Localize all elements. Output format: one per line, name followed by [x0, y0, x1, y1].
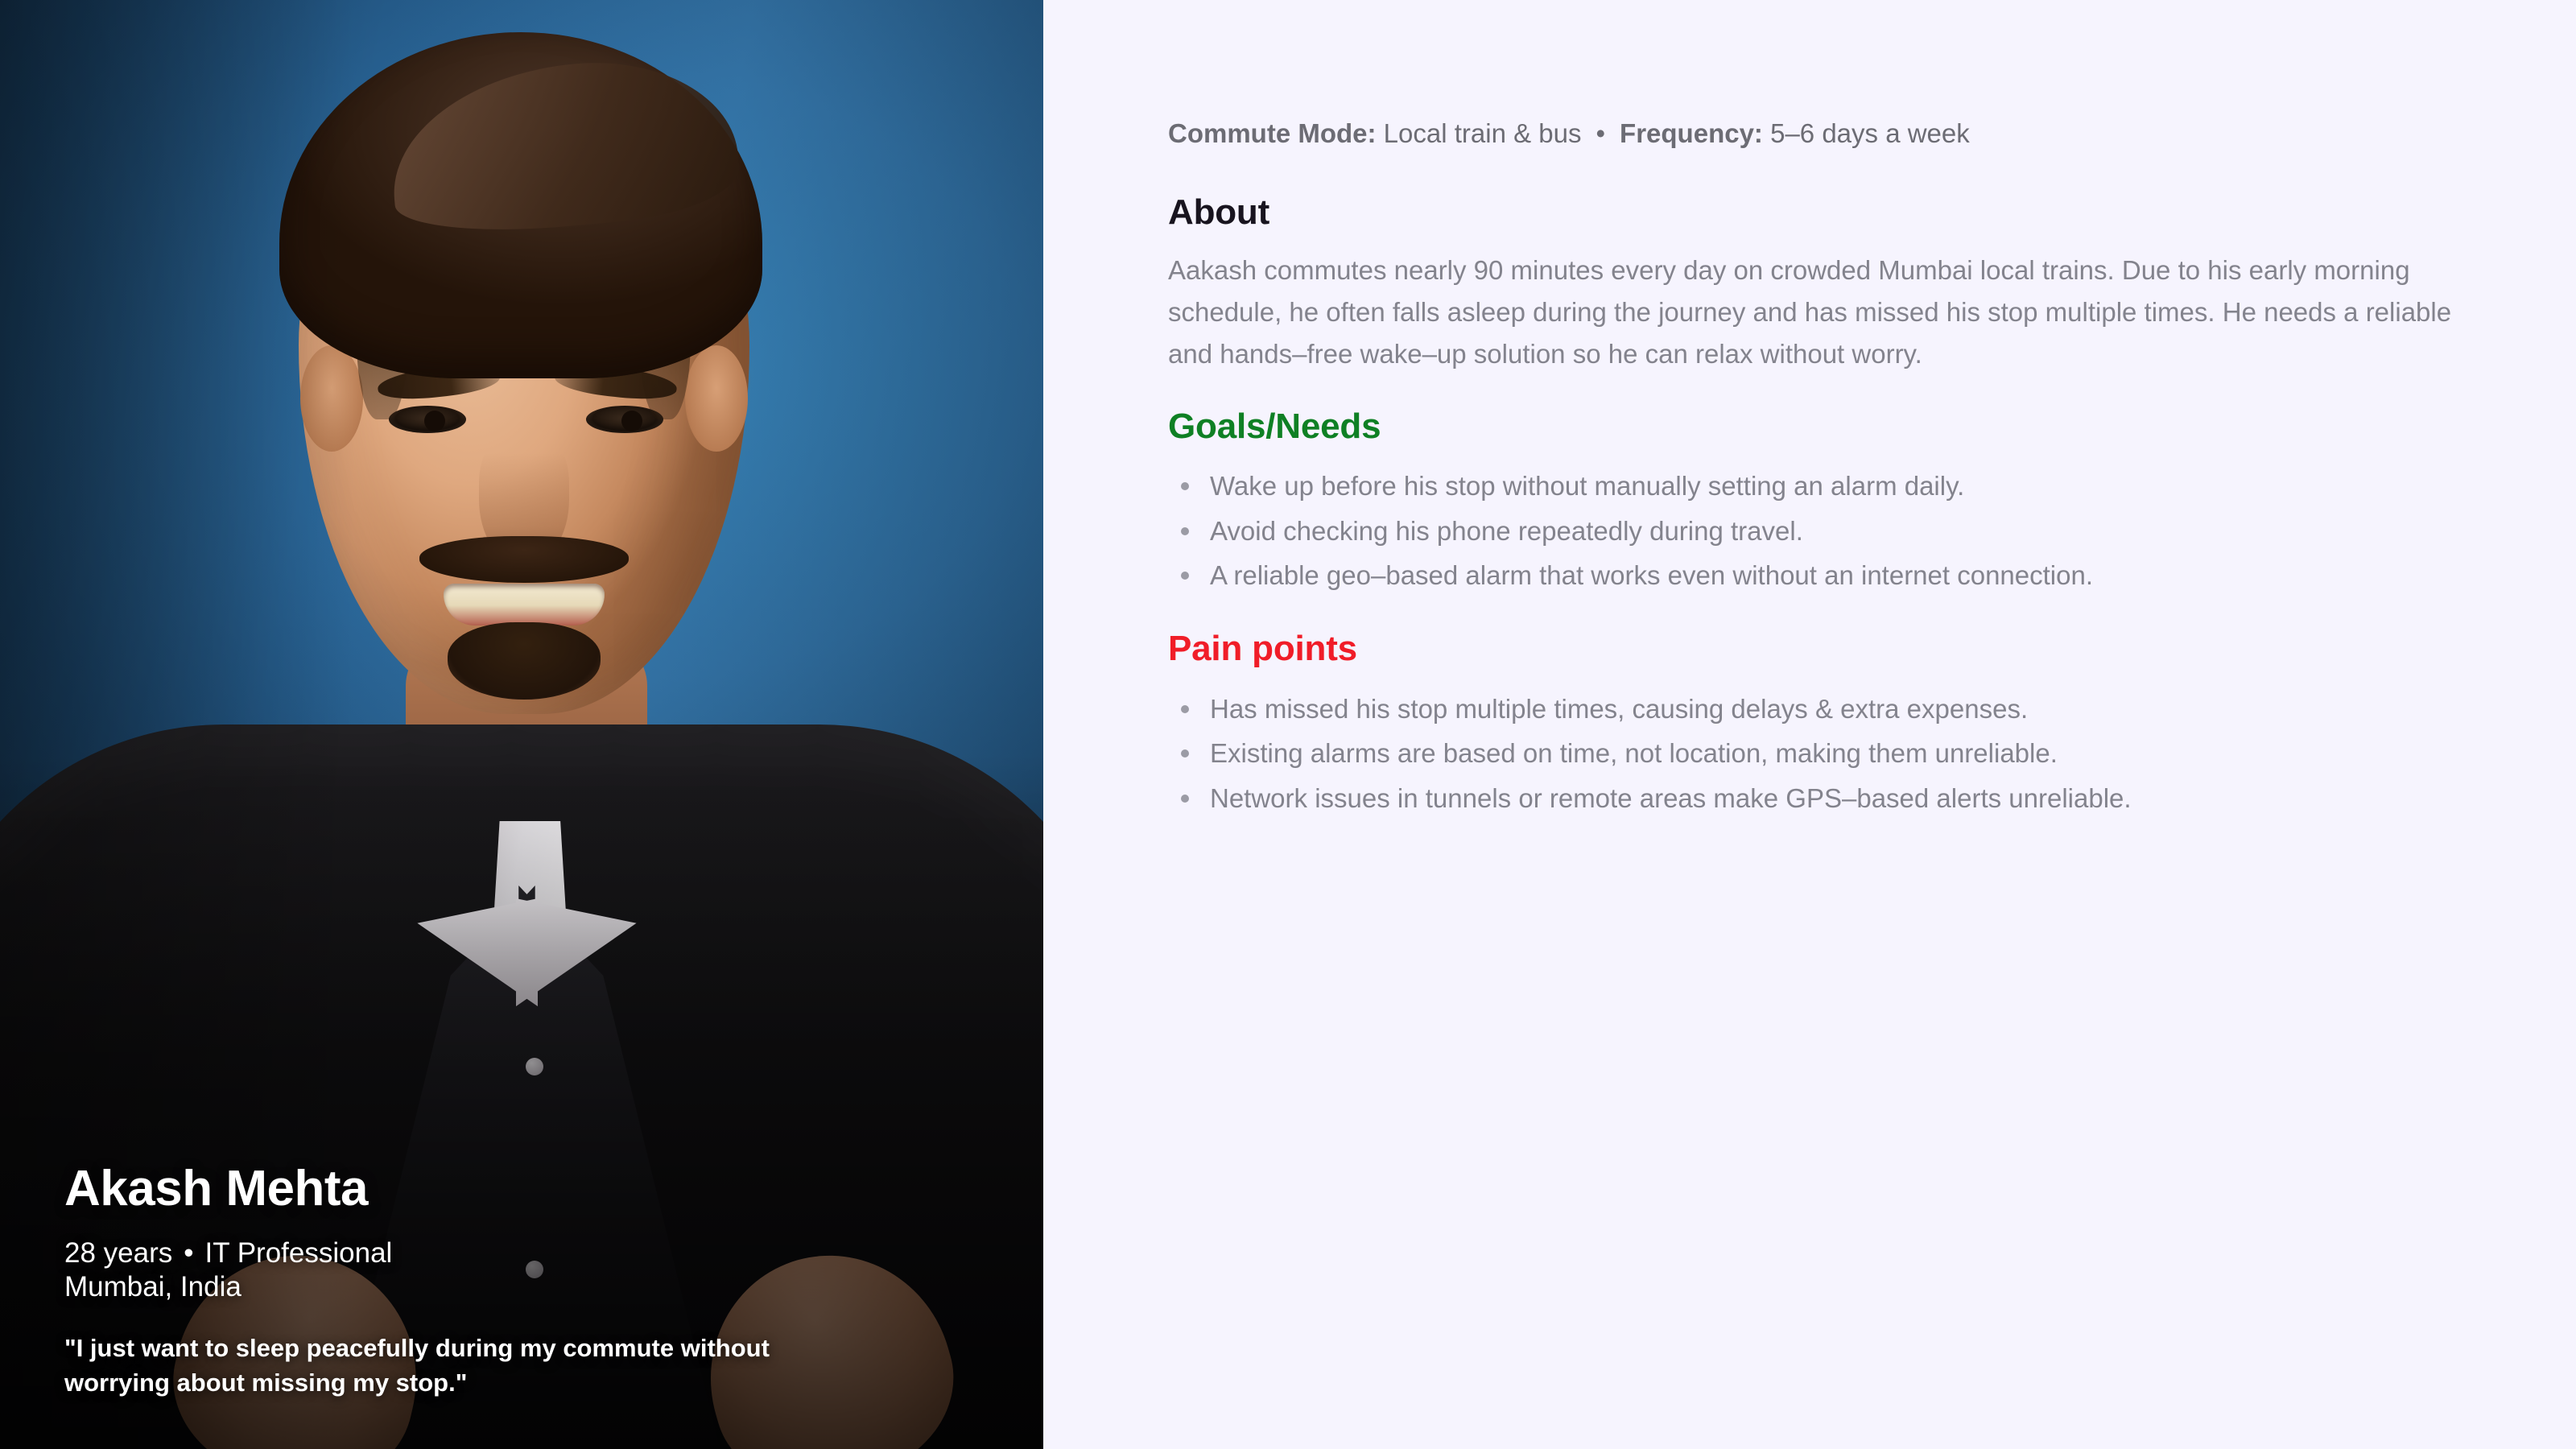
pain-points-list: Has missed his stop multiple times, caus… [1168, 688, 2455, 819]
bullet-dot-icon [1181, 572, 1189, 580]
pain-points-heading: Pain points [1168, 630, 2455, 668]
list-item: A reliable geo–based alarm that works ev… [1168, 555, 2455, 596]
portrait-pupil-right [621, 411, 642, 431]
commute-frequency-label: Frequency: [1620, 118, 1763, 148]
persona-identity-overlay: Akash Mehta 28 years•IT Professional Mum… [64, 1163, 910, 1401]
persona-age-occupation: 28 years•IT Professional [64, 1236, 910, 1270]
pain-points-item-text: Existing alarms are based on time, not l… [1210, 738, 2058, 768]
commute-meta-line: Commute Mode: Local train & bus•Frequenc… [1168, 117, 2455, 151]
portrait-goatee [448, 622, 601, 700]
goals-item-text: Wake up before his stop without manually… [1210, 471, 1964, 501]
list-item: Network issues in tunnels or remote area… [1168, 778, 2455, 819]
about-body-text: Aakash commutes nearly 90 minutes every … [1168, 250, 2455, 374]
persona-photo-panel: Akash Mehta 28 years•IT Professional Mum… [0, 0, 1043, 1449]
goals-list: Wake up before his stop without manually… [1168, 465, 2455, 596]
list-item: Wake up before his stop without manually… [1168, 465, 2455, 506]
list-item: Avoid checking his phone repeatedly duri… [1168, 510, 2455, 551]
commute-meta-separator-icon: • [1581, 118, 1620, 148]
portrait-moustache [419, 536, 629, 583]
persona-location: Mumbai, India [64, 1270, 910, 1304]
portrait-eye-left [389, 406, 466, 433]
list-item: Has missed his stop multiple times, caus… [1168, 688, 2455, 729]
portrait-smiling-mouth [444, 584, 605, 625]
persona-occupation: IT Professional [205, 1237, 393, 1269]
bullet-dot-icon [1181, 749, 1189, 758]
portrait-pupil-left [424, 411, 445, 431]
pain-points-item-text: Network issues in tunnels or remote area… [1210, 783, 2132, 813]
about-heading: About [1168, 193, 2455, 232]
goals-item-text: A reliable geo–based alarm that works ev… [1210, 560, 2093, 590]
bullet-dot-icon [1181, 482, 1189, 490]
persona-name: Akash Mehta [64, 1163, 910, 1215]
commute-mode-value: Local train & bus [1384, 118, 1582, 148]
portrait-shirt-button-upper [526, 1058, 543, 1075]
portrait-ear-left [300, 345, 363, 452]
persona-age: 28 years [64, 1237, 172, 1269]
bullet-dot-icon [1181, 795, 1189, 803]
pain-points-item-text: Has missed his stop multiple times, caus… [1210, 694, 2028, 724]
goals-item-text: Avoid checking his phone repeatedly duri… [1210, 516, 1803, 546]
list-item: Existing alarms are based on time, not l… [1168, 733, 2455, 774]
portrait-ear-right [685, 345, 748, 452]
commute-mode-label: Commute Mode: [1168, 118, 1377, 148]
persona-meta-separator-icon: • [172, 1237, 204, 1269]
persona-quote: "I just want to sleep peacefully during … [64, 1331, 877, 1401]
commute-frequency-value: 5–6 days a week [1770, 118, 1970, 148]
bullet-dot-icon [1181, 527, 1189, 535]
persona-card: Akash Mehta 28 years•IT Professional Mum… [0, 0, 2576, 1449]
bullet-dot-icon [1181, 705, 1189, 713]
goals-heading: Goals/Needs [1168, 407, 2455, 446]
persona-detail-panel: Commute Mode: Local train & bus•Frequenc… [1043, 0, 2576, 1449]
